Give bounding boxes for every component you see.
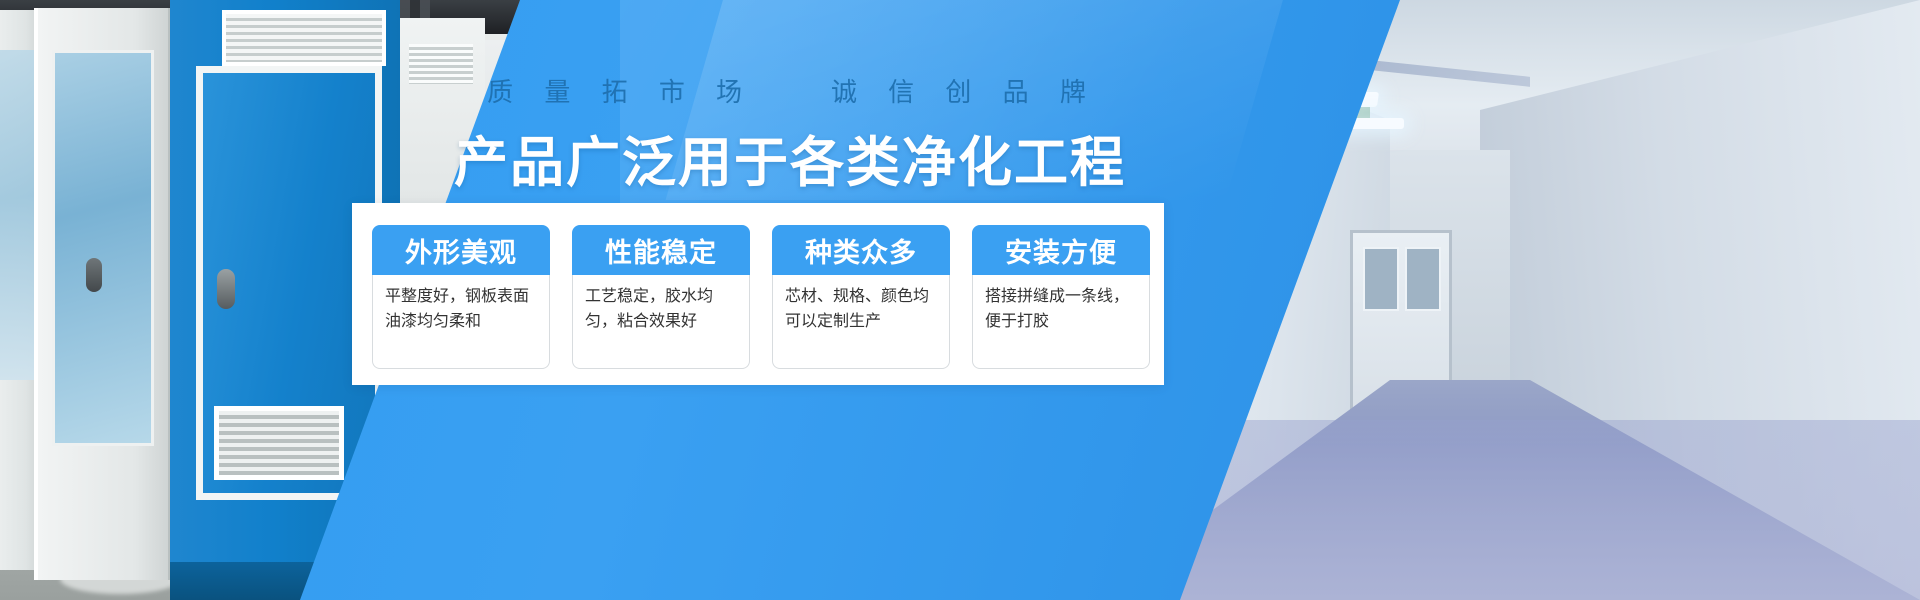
door-knob-icon [217, 269, 235, 309]
banner-headline: 产品广泛用于各类净化工程 [0, 118, 1580, 197]
feature-cards-container: 外形美观 平整度好，钢板表面油漆均匀柔和 性能稳定 工艺稳定，胶水均匀，粘合效果… [352, 203, 1164, 385]
feature-card-1[interactable]: 外形美观 平整度好，钢板表面油漆均匀柔和 [372, 225, 550, 369]
door-handle-icon [86, 258, 102, 292]
feature-card-3-text: 芯材、规格、颜色均可以定制生产 [772, 275, 950, 369]
feature-card-2-title: 性能稳定 [572, 225, 750, 275]
banner-stage: 质 量 拓 市 场 诚 信 创 品 牌 产品广泛用于各类净化工程 外形美观 平整… [0, 0, 1920, 600]
banner-tagline: 质 量 拓 市 场 诚 信 创 品 牌 [0, 72, 1585, 109]
feature-card-3[interactable]: 种类众多 芯材、规格、颜色均可以定制生产 [772, 225, 950, 369]
feature-card-4-text: 搭接拼缝成一条线，便于打胶 [972, 275, 1150, 369]
feature-card-4[interactable]: 安装方便 搭接拼缝成一条线，便于打胶 [972, 225, 1150, 369]
feature-card-1-text: 平整度好，钢板表面油漆均匀柔和 [372, 275, 550, 369]
glass-door [52, 50, 154, 446]
feature-cards-row: 外形美观 平整度好，钢板表面油漆均匀柔和 性能稳定 工艺稳定，胶水均匀，粘合效果… [372, 225, 1150, 369]
vent-bottom-icon [214, 406, 344, 480]
feature-card-2[interactable]: 性能稳定 工艺稳定，胶水均匀，粘合效果好 [572, 225, 750, 369]
door-window-left [1363, 247, 1399, 311]
feature-card-3-title: 种类众多 [772, 225, 950, 275]
feature-card-4-title: 安装方便 [972, 225, 1150, 275]
vent-top-icon [222, 10, 386, 66]
feature-card-2-text: 工艺稳定，胶水均匀，粘合效果好 [572, 275, 750, 369]
door-window-right [1405, 247, 1441, 311]
feature-card-1-title: 外形美观 [372, 225, 550, 275]
